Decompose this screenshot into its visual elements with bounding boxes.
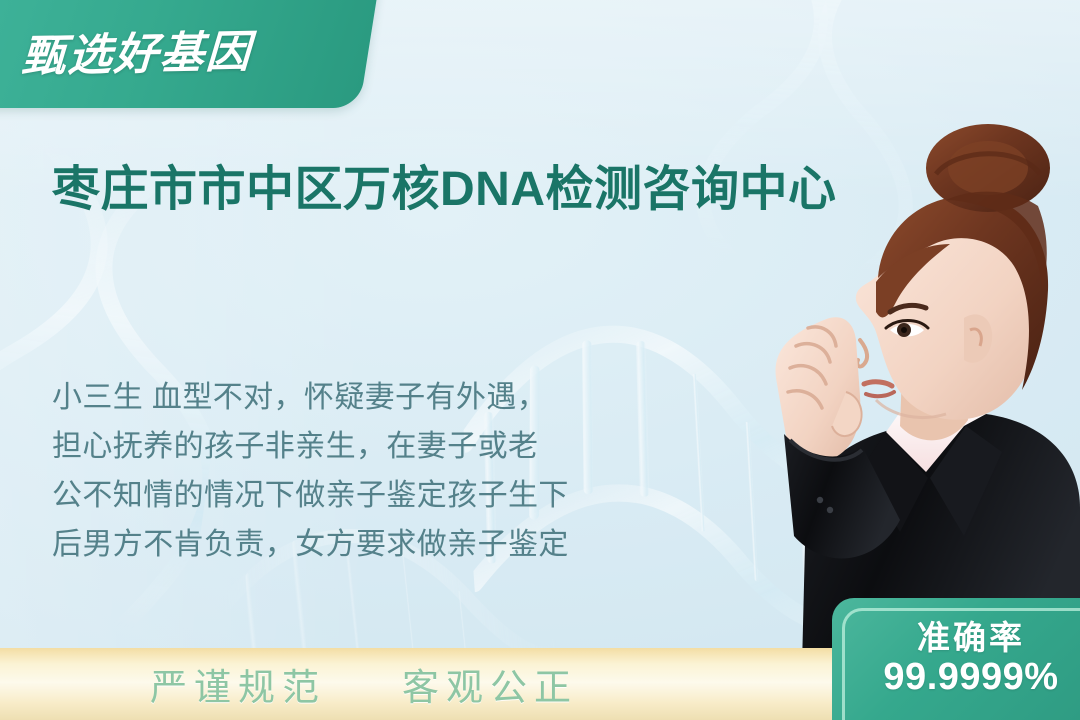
body-line-4: 后男方不肯负责，女方要求做亲子鉴定	[52, 521, 692, 570]
body-line-3: 公不知情的情况下做亲子鉴定孩子生下	[52, 472, 692, 521]
brand-banner: 甄选好基因	[0, 0, 381, 108]
accuracy-badge: 准确率 99.9999%	[832, 598, 1080, 720]
dna-helix-watermark-top	[674, 0, 1007, 285]
slogan-item-rigorous: 严谨规范	[150, 657, 326, 711]
body-line-2: 担心抚养的孩子非亲生，在妻子或老	[52, 423, 692, 472]
brand-label: 甄选好基因	[20, 16, 253, 85]
promo-poster: 甄选好基因 枣庄市市中区万核DNA检测咨询中心 小三生 血型不对，怀疑妻子有外遇…	[0, 0, 1080, 720]
slogan-item-objective: 客观公正	[402, 657, 578, 711]
page-title: 枣庄市市中区万核DNA检测咨询中心	[52, 160, 842, 220]
body-line-1: 小三生 血型不对，怀疑妻子有外遇，	[52, 374, 692, 423]
body-copy: 小三生 血型不对，怀疑妻子有外遇， 担心抚养的孩子非亲生，在妻子或老 公不知情的…	[52, 374, 692, 570]
accuracy-badge-title: 准确率	[917, 620, 1025, 656]
accuracy-badge-value: 99.9999%	[883, 658, 1058, 698]
